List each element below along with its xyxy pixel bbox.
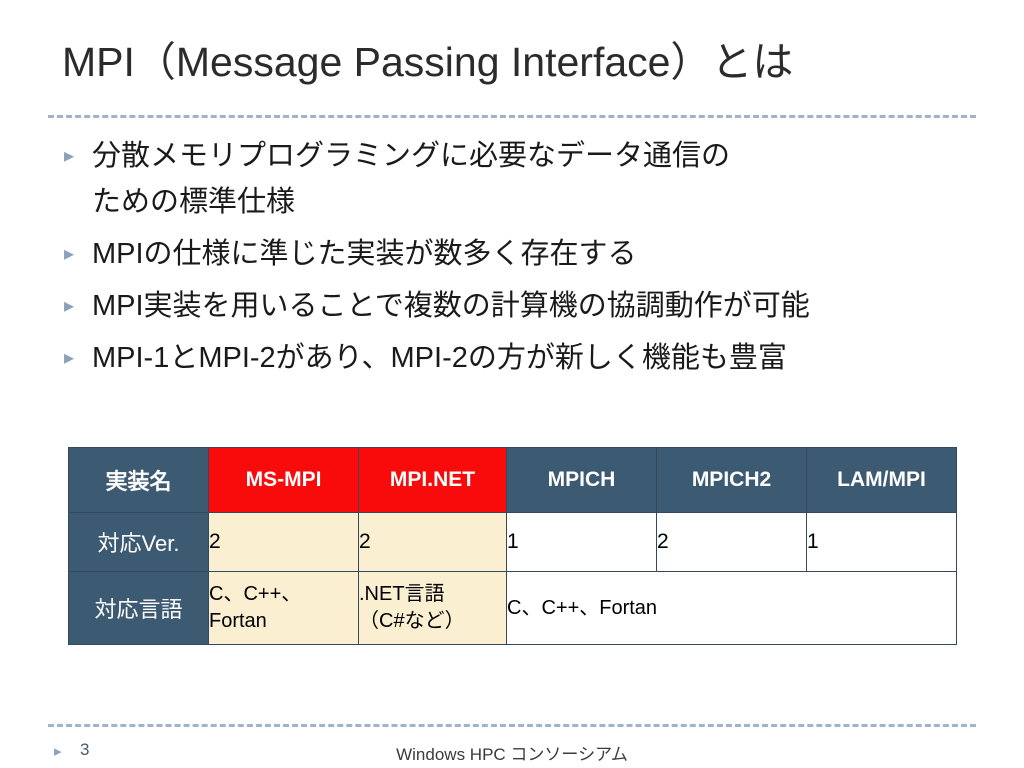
table-header-cell: MPICH <box>507 448 657 513</box>
bullet-marker-icon: ▸ <box>58 283 92 329</box>
table-row-label: 対応Ver. <box>69 513 209 572</box>
table-cell: 2 <box>657 513 807 572</box>
bullet-text: MPIの仕様に準じた実装が数多く存在する <box>92 231 637 277</box>
table-cell: 1 <box>507 513 657 572</box>
table-cell: 2 <box>209 513 359 572</box>
bullet-text: MPI-1とMPI-2があり、MPI-2の方が新しく機能も豊富 <box>92 335 787 381</box>
table-row: 対応Ver. 2 2 1 2 1 <box>69 513 957 572</box>
bullet-marker-icon: ▸ <box>58 335 92 381</box>
table-cell: C、C++、Fortan <box>507 572 957 645</box>
table-row: 対応言語 C、C++、 Fortan .NET言語 （C#など） C、C++、F… <box>69 572 957 645</box>
table-header-cell: MPI.NET <box>359 448 507 513</box>
table-header-cell: MPICH2 <box>657 448 807 513</box>
table-header-cell: 実装名 <box>69 448 209 513</box>
list-item: ▸ MPI実装を用いることで複数の計算機の協調動作が可能 <box>58 283 978 329</box>
table-cell: .NET言語 （C#など） <box>359 572 507 645</box>
table-header-row: 実装名 MS-MPI MPI.NET MPICH MPICH2 LAM/MPI <box>69 448 957 513</box>
page-title: MPI（Message Passing Interface）とは <box>62 28 793 88</box>
table-header-cell: MS-MPI <box>209 448 359 513</box>
list-item: ▸ 分散メモリプログラミングに必要なデータ通信の ための標準仕様 <box>58 133 978 225</box>
table-cell: C、C++、 Fortan <box>209 572 359 645</box>
bullet-marker-icon: ▸ <box>58 231 92 277</box>
list-item: ▸ MPIの仕様に準じた実装が数多く存在する <box>58 231 978 277</box>
divider-bottom <box>48 724 976 727</box>
bullet-list: ▸ 分散メモリプログラミングに必要なデータ通信の ための標準仕様 ▸ MPIの仕… <box>58 133 978 387</box>
bullet-marker-icon: ▸ <box>58 133 92 179</box>
list-item: ▸ MPI-1とMPI-2があり、MPI-2の方が新しく機能も豊富 <box>58 335 978 381</box>
divider-top <box>48 115 976 118</box>
table-cell: 1 <box>807 513 957 572</box>
table-row-label: 対応言語 <box>69 572 209 645</box>
table-cell: 2 <box>359 513 507 572</box>
bullet-text: 分散メモリプログラミングに必要なデータ通信の ための標準仕様 <box>92 133 730 225</box>
implementations-table: 実装名 MS-MPI MPI.NET MPICH MPICH2 LAM/MPI … <box>68 447 957 645</box>
bullet-text: MPI実装を用いることで複数の計算機の協調動作が可能 <box>92 283 810 329</box>
footer-text: Windows HPC コンソーシアム <box>0 740 1024 765</box>
table-header-cell: LAM/MPI <box>807 448 957 513</box>
